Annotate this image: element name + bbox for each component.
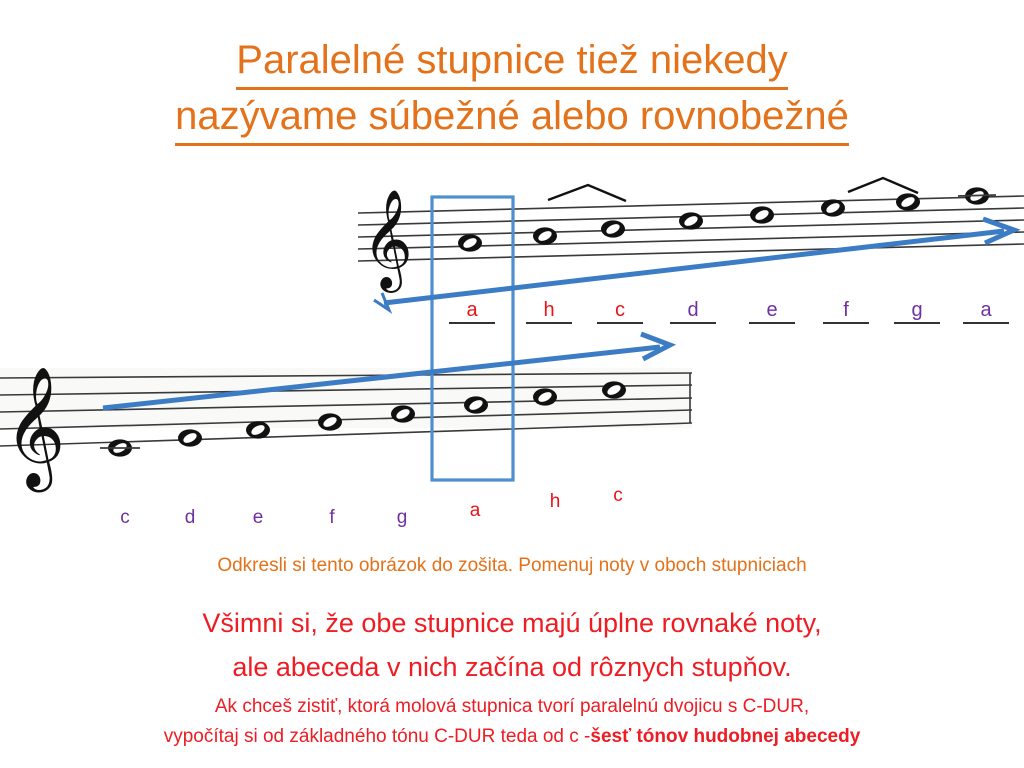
letter-rule <box>449 322 495 324</box>
letter-rule <box>670 322 716 324</box>
note-h1 <box>533 227 557 244</box>
letter-top-0: a <box>444 300 500 324</box>
page-title: Paralelné stupnice tiež niekedy nazývame… <box>0 34 1024 146</box>
letter-bottom-3: f <box>312 508 352 528</box>
note-c3 <box>108 439 132 456</box>
letter-bottom-0: c <box>105 508 145 528</box>
arrow-top-right <box>374 219 1014 310</box>
note-letters-top: a h c d e f g a <box>0 300 1024 332</box>
conclusion-line-4-bold: šesť tónov hudobnej abecedy <box>590 726 860 747</box>
letter-rule <box>749 322 795 324</box>
task-instruction: Odkresli si tento obrázok do zošita. Pom… <box>0 553 1024 579</box>
title-line-1: Paralelné stupnice tiež niekedy <box>0 34 1024 90</box>
note-d1 <box>679 212 703 229</box>
treble-clef-icon-top: 𝄞 <box>362 189 413 293</box>
letter-rule <box>526 322 572 324</box>
note-d3 <box>178 429 202 446</box>
conclusion-line-4-plain: vypočítaj si od základného tónu C-DUR te… <box>164 726 591 747</box>
letter-bottom-1: d <box>170 508 210 528</box>
letter-bottom-4: g <box>382 508 422 528</box>
conclusion-line-3: Ak chceš zistiť, ktorá molová stupnica t… <box>0 694 1024 720</box>
staff-top-notes <box>458 178 996 252</box>
note-f3 <box>318 413 342 430</box>
letter-top-6: g <box>889 300 945 324</box>
note-c4 <box>602 381 626 398</box>
letter-top-4: e <box>744 300 800 324</box>
staff-top-lines <box>358 196 1024 261</box>
highlight-box <box>432 197 513 480</box>
note-c1 <box>601 220 625 237</box>
letter-bottom-6: h <box>535 492 575 512</box>
letter-top-5: f <box>818 300 874 324</box>
letter-rule <box>894 322 940 324</box>
note-g3 <box>391 405 415 422</box>
note-g1 <box>896 193 920 210</box>
note-e3 <box>246 421 270 438</box>
letter-bottom-7: c <box>598 486 638 506</box>
letter-rule <box>597 322 643 324</box>
note-letters-bottom: c d e f g a h c <box>0 470 1024 530</box>
conclusion-line-4: vypočítaj si od základného tónu C-DUR te… <box>0 724 1024 750</box>
letter-bottom-2: e <box>238 508 278 528</box>
note-a3 <box>464 396 488 413</box>
letter-top-7: a <box>958 300 1014 324</box>
title-line-2: nazývame súbežné alebo rovnobežné <box>0 90 1024 146</box>
conclusion-line-2: ale abeceda v nich začína od rôznych stu… <box>0 650 1024 684</box>
letter-rule <box>963 322 1009 324</box>
letter-top-3: d <box>665 300 721 324</box>
letter-top-2: c <box>592 300 648 324</box>
arrow-bottom-right <box>103 334 670 408</box>
note-e1 <box>750 206 774 223</box>
letter-rule <box>823 322 869 324</box>
staff-bottom-lines <box>0 373 692 446</box>
note-a2 <box>965 187 989 204</box>
note-f1 <box>821 199 845 216</box>
staff-bottom-notes <box>100 381 626 456</box>
letter-bottom-5: a <box>455 501 495 521</box>
letter-top-1: h <box>521 300 577 324</box>
note-h3 <box>533 388 557 405</box>
slide-canvas: Paralelné stupnice tiež niekedy nazývame… <box>0 0 1024 768</box>
note-a1 <box>458 234 482 251</box>
conclusion-line-1: Všimni si, že obe stupnice majú úplne ro… <box>0 606 1024 640</box>
